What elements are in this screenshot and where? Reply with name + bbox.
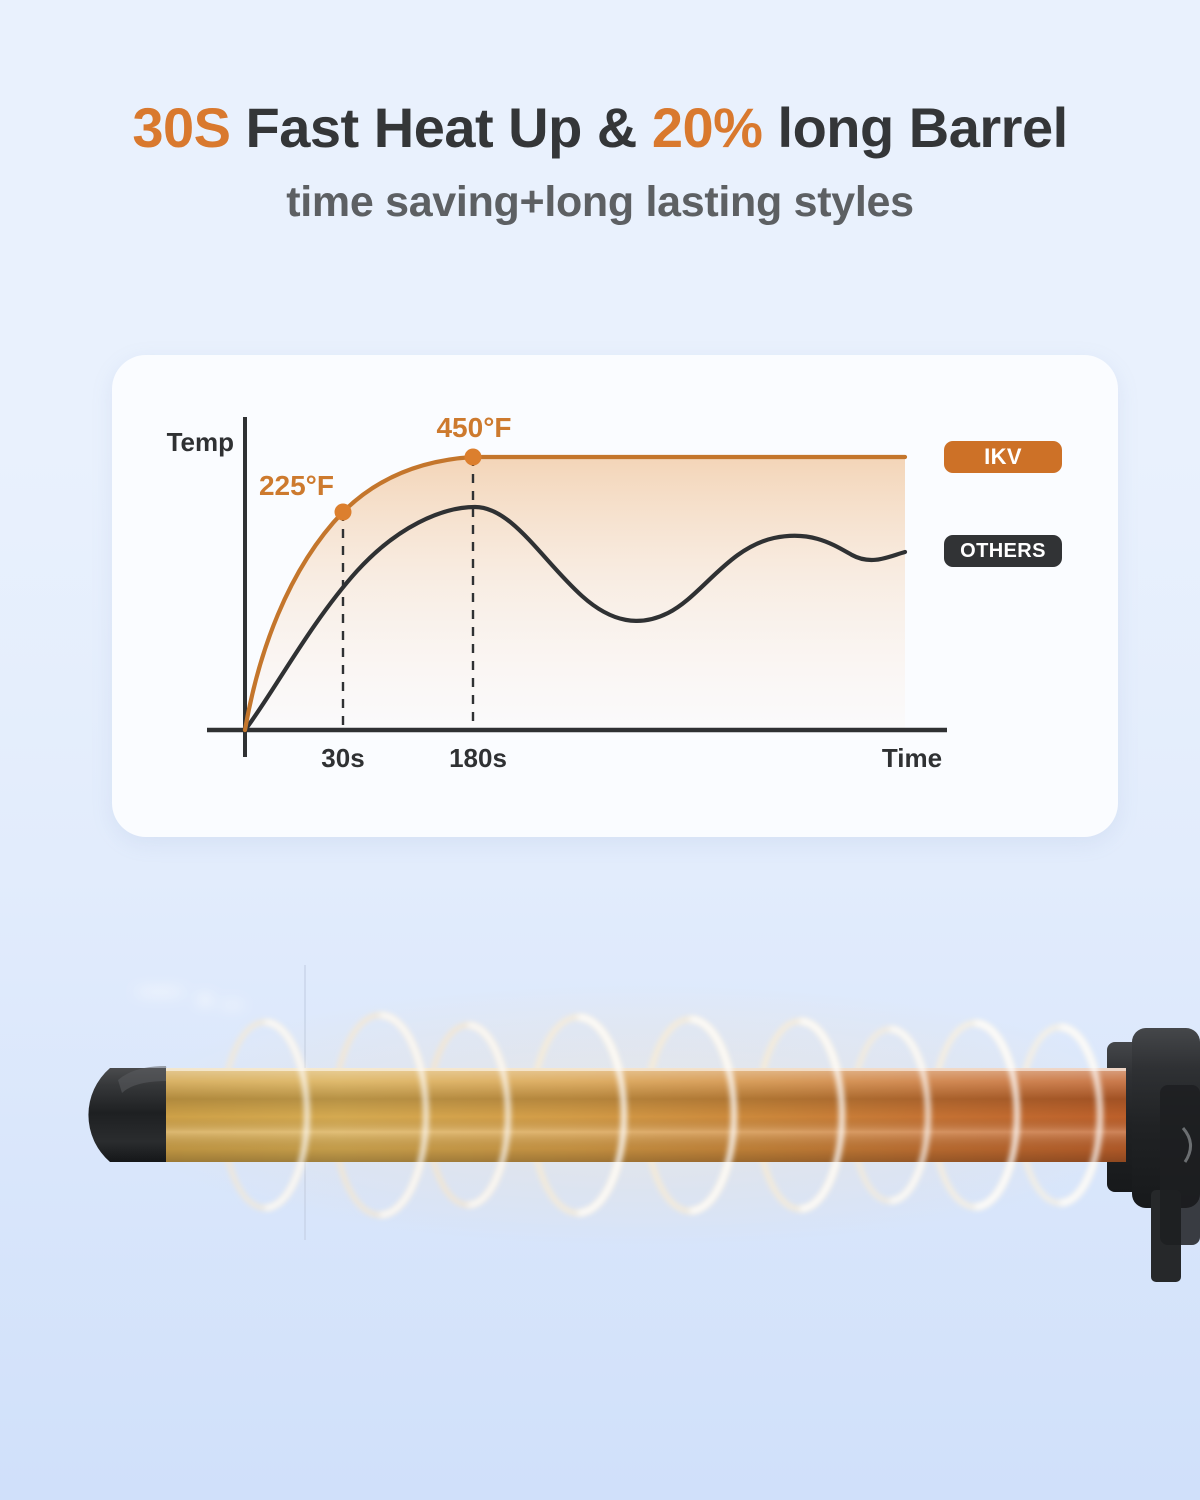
legend-badge-others[interactable]: OTHERS bbox=[944, 535, 1062, 567]
product-illustration bbox=[0, 940, 1200, 1360]
chart-legend: IKV OTHERS bbox=[944, 355, 1104, 837]
annotation-450f: 450°F bbox=[436, 412, 511, 443]
x-axis-label: Time bbox=[882, 743, 942, 773]
headline-accent-percent: 20% bbox=[652, 96, 763, 159]
xtick-label-30s: 30s bbox=[321, 743, 364, 773]
legend-label-ikv: IKV bbox=[984, 444, 1022, 470]
page-subtitle: time saving+long lasting styles bbox=[0, 157, 1200, 225]
heat-up-chart-card: Temp Time 30s 180s 225°F 450°F IKV OTHER… bbox=[112, 355, 1118, 837]
xtick-label-180s: 180s bbox=[449, 743, 507, 773]
annotation-225f: 225°F bbox=[259, 470, 334, 501]
header: 30S Fast Heat Up & 20% long Barrel time … bbox=[0, 0, 1200, 226]
y-axis-label: Temp bbox=[167, 427, 234, 457]
legend-badge-ikv[interactable]: IKV bbox=[944, 441, 1062, 473]
headline-accent-seconds: 30S bbox=[132, 96, 230, 159]
headline-text-1: Fast Heat Up & bbox=[230, 96, 651, 159]
sparkle-flecks bbox=[134, 988, 245, 1009]
curling-iron-barrel-image bbox=[0, 940, 1200, 1360]
page-title: 30S Fast Heat Up & 20% long Barrel bbox=[0, 0, 1200, 157]
barrel-top-edge bbox=[166, 1068, 1126, 1071]
barrel-shading bbox=[166, 1068, 1126, 1162]
legend-label-others: OTHERS bbox=[960, 540, 1046, 563]
headline-text-2: long Barrel bbox=[762, 96, 1067, 159]
data-point-450f bbox=[465, 449, 482, 466]
data-point-225f bbox=[335, 504, 352, 521]
